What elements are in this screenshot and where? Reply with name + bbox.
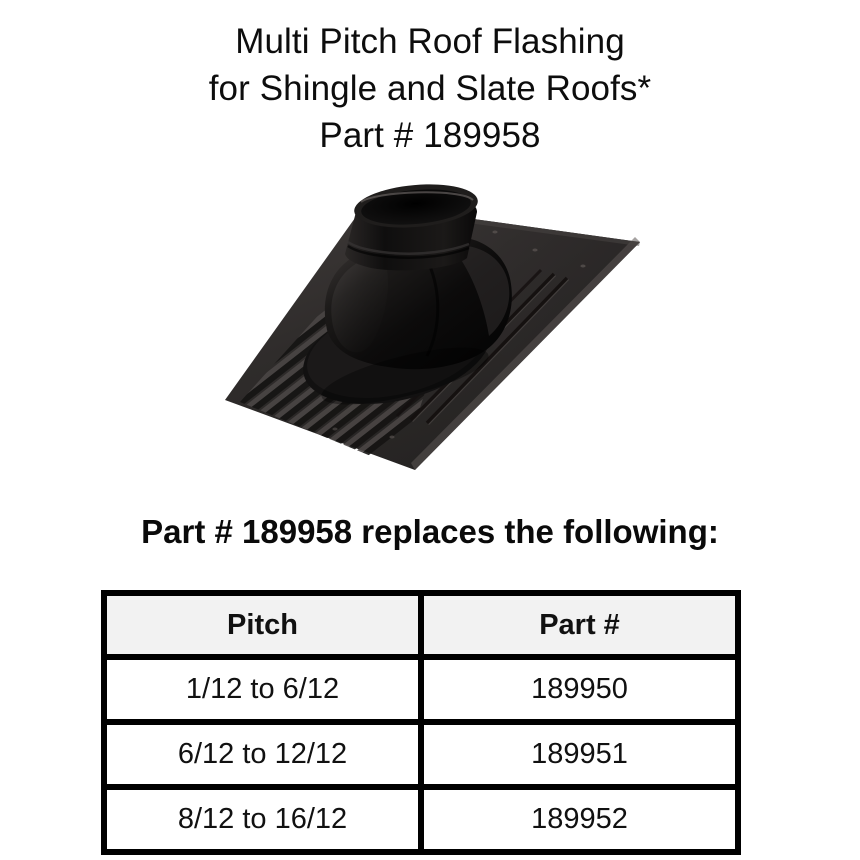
roof-flashing-illustration (215, 180, 665, 480)
parts-table-head: Pitch Part # (104, 593, 738, 657)
cell-pitch: 8/12 to 16/12 (104, 787, 421, 852)
title-line-1: Multi Pitch Roof Flashing (0, 18, 860, 65)
column-header-pitch: Pitch (104, 593, 421, 657)
cell-pitch: 1/12 to 6/12 (104, 657, 421, 722)
parts-table: Pitch Part # 1/12 to 6/12 189950 6/12 to… (101, 590, 741, 855)
parts-table-body: 1/12 to 6/12 189950 6/12 to 12/12 189951… (104, 657, 738, 852)
column-header-part-number: Part # (421, 593, 738, 657)
title-line-3: Part # 189958 (0, 112, 860, 159)
table-header-row: Pitch Part # (104, 593, 738, 657)
table-row: 6/12 to 12/12 189951 (104, 722, 738, 787)
cell-part-number: 189952 (421, 787, 738, 852)
cell-part-number: 189951 (421, 722, 738, 787)
replaces-heading: Part # 189958 replaces the following: (0, 510, 860, 554)
vent-boot-collar (345, 180, 480, 270)
table-row: 1/12 to 6/12 189950 (104, 657, 738, 722)
page-title: Multi Pitch Roof Flashing for Shingle an… (0, 18, 860, 159)
parts-table-container: Pitch Part # 1/12 to 6/12 189950 6/12 to… (101, 590, 735, 855)
product-info-sheet: Multi Pitch Roof Flashing for Shingle an… (0, 0, 860, 860)
table-row: 8/12 to 16/12 189952 (104, 787, 738, 852)
title-line-2: for Shingle and Slate Roofs* (0, 65, 860, 112)
product-image (215, 180, 665, 480)
cell-part-number: 189950 (421, 657, 738, 722)
cell-pitch: 6/12 to 12/12 (104, 722, 421, 787)
